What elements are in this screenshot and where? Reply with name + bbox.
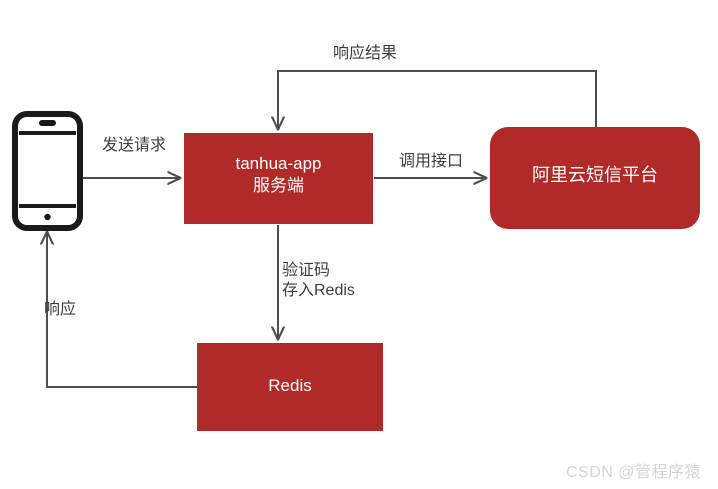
node-aliyun-sms-platform[interactable]: [490, 127, 700, 229]
node-redis[interactable]: [197, 343, 383, 431]
edge-response-result: [278, 71, 596, 129]
node-tanhua-app[interactable]: [184, 133, 373, 224]
edge-response: [47, 232, 197, 387]
diagram-canvas: tanhua-app 服务端 阿里云短信平台 Redis 发送请求 调用接口 响…: [0, 0, 718, 489]
csdn-watermark: CSDN @管程序猿: [566, 458, 701, 482]
phone-icon: [15, 114, 80, 228]
